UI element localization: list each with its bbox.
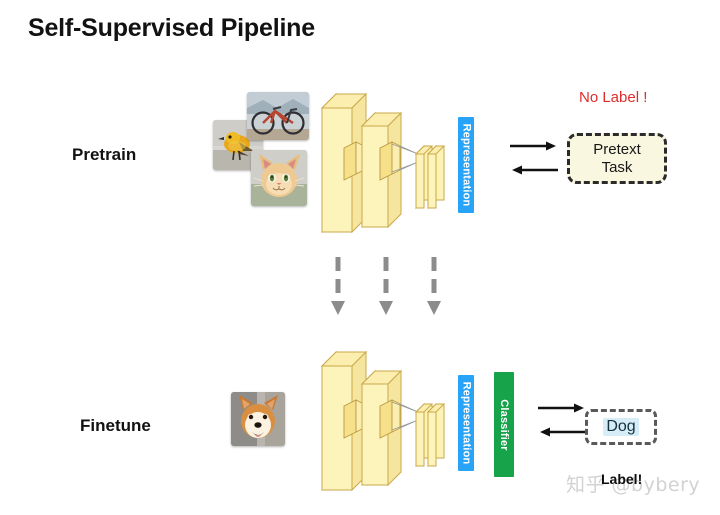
classifier-bar: Classifier <box>494 372 514 477</box>
pretext-task-box: Pretext Task <box>567 133 667 184</box>
transition-dashed-arrows <box>330 255 450 335</box>
stage-label-finetune: Finetune <box>80 416 151 436</box>
dog-thumbnail <box>231 392 285 446</box>
cnn-encoder-finetune <box>318 344 450 492</box>
dog-prediction-box: Dog <box>585 409 657 445</box>
cnn-encoder-pretrain <box>318 86 450 234</box>
pretext-task-line-2: Task <box>602 159 633 177</box>
label-annotation: Label! <box>601 471 642 487</box>
representation-bar-pretrain: Representation <box>458 117 474 213</box>
no-label-annotation: No Label ! <box>579 89 647 106</box>
cat-thumbnail <box>251 150 307 206</box>
diagram-canvas: Self-Supervised Pipeline Pretrain <box>0 0 720 515</box>
pretext-task-line-1: Pretext <box>593 141 641 159</box>
representation-bar-label: Representation <box>460 124 472 207</box>
bicycle-thumbnail <box>247 92 309 140</box>
page-title: Self-Supervised Pipeline <box>28 14 315 43</box>
classifier-bar-label: Classifier <box>498 399 510 451</box>
left-arrow-icon <box>540 428 586 437</box>
representation-bar-finetune: Representation <box>458 375 474 471</box>
stage-label-pretrain: Pretrain <box>72 145 136 165</box>
right-arrow-icon <box>538 404 584 413</box>
representation-bar-label: Representation <box>460 382 472 465</box>
right-arrow-icon <box>510 142 556 151</box>
arrow-pair-pretrain <box>508 136 560 182</box>
left-arrow-icon <box>512 166 558 175</box>
arrow-pair-finetune <box>536 398 588 444</box>
dog-prediction-label: Dog <box>603 418 638 437</box>
